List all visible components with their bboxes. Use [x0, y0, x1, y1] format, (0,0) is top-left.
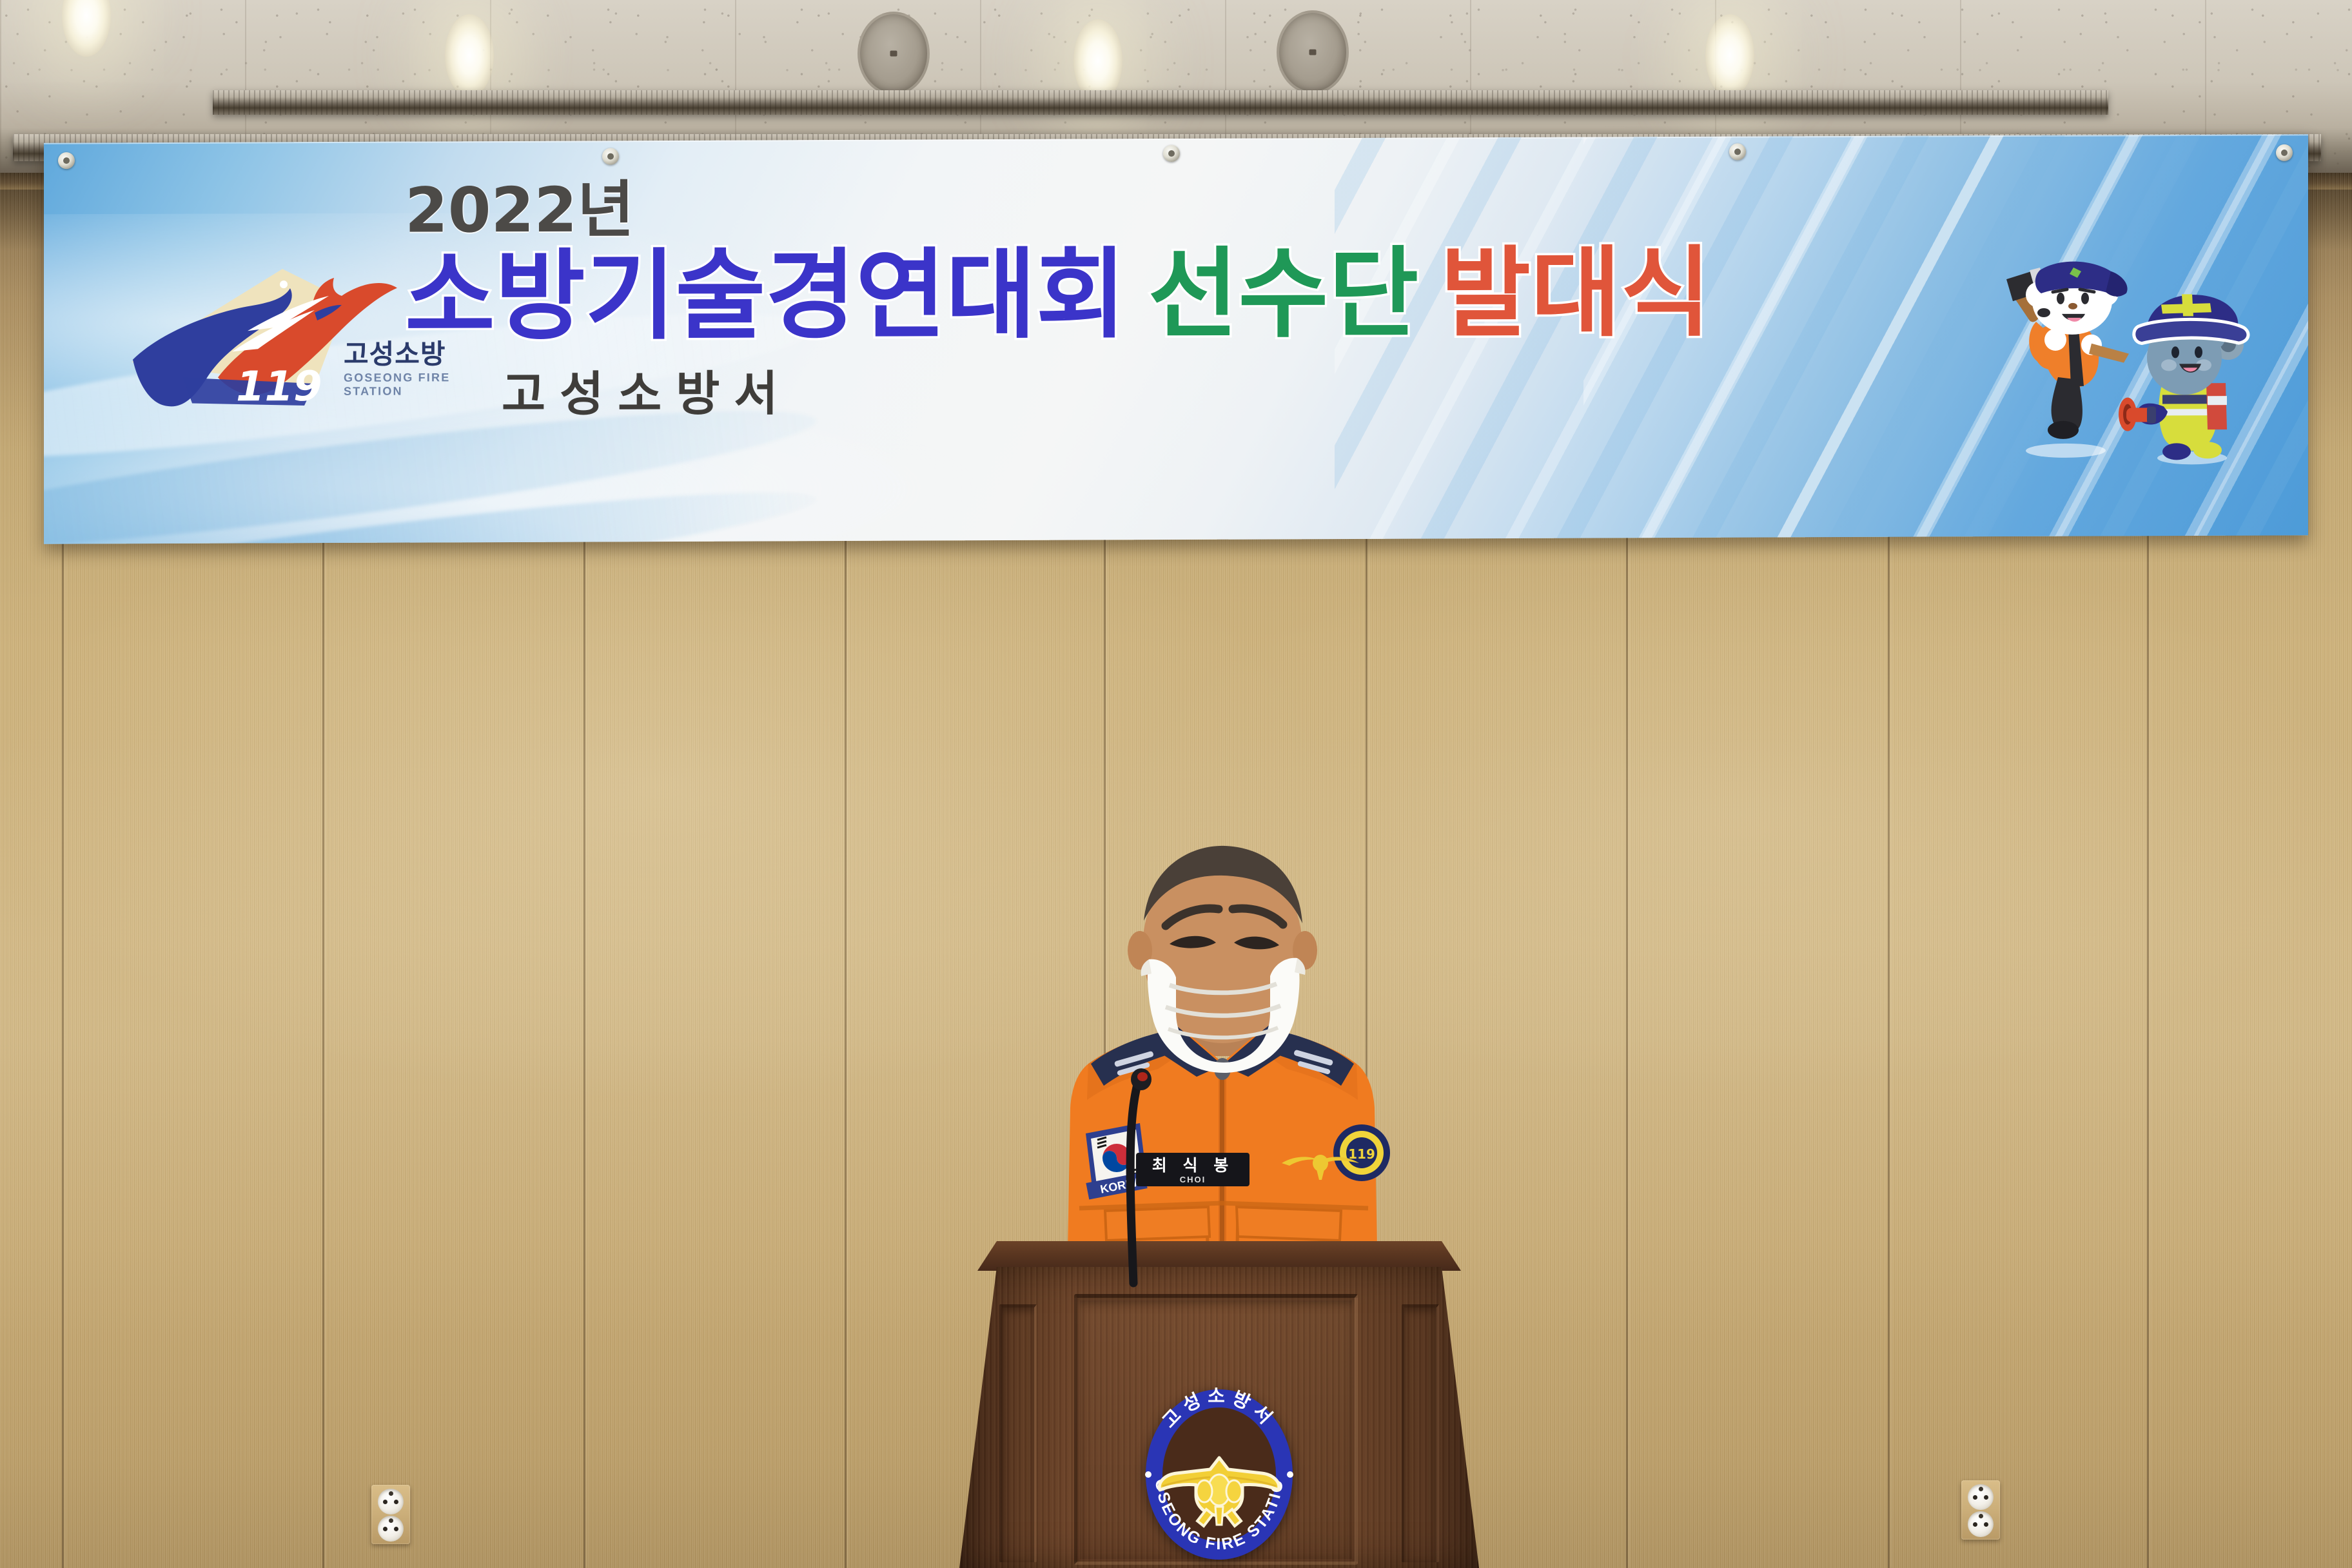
- ceiling-downlight: [1705, 14, 1754, 97]
- wall-outlet-right: [1961, 1480, 2000, 1540]
- photo-scene: 119 고성소방 GOSEONG FIRE STATION 2022년 소방기술…: [0, 0, 2352, 1568]
- nametag-korean: 최 식 봉: [1152, 1156, 1233, 1175]
- banner-mascots: [1991, 257, 2268, 470]
- outlet-socket: [1968, 1511, 1994, 1537]
- bear-mascot: [2119, 294, 2248, 465]
- vent-slats: [213, 90, 2108, 115]
- podium-front-body: 고성소방서 GOSEONG FIRE STATION: [959, 1267, 1479, 1568]
- event-banner: 119 고성소방 GOSEONG FIRE STATION 2022년 소방기술…: [44, 134, 2308, 544]
- mic-indicator: [1137, 1072, 1148, 1081]
- logo-119-number: 119: [236, 363, 322, 411]
- shoulder-patch-number: 119: [1348, 1146, 1375, 1162]
- banner-title-part3: 발대식: [1440, 236, 1711, 351]
- podium-side-panel-left: [999, 1304, 1037, 1562]
- ceiling-downlight: [62, 0, 111, 57]
- banner-grommet: [1729, 143, 1746, 160]
- podium-top-surface: [977, 1241, 1461, 1271]
- outlet-socket: [378, 1516, 404, 1542]
- fire-service-shoulder-patch: 119: [1333, 1124, 1390, 1181]
- outlet-socket: [1968, 1484, 1994, 1510]
- ceiling-downlight: [445, 14, 494, 97]
- tiger-mascot: [2006, 261, 2129, 458]
- banner-title-part2: 선수단: [1148, 237, 1419, 351]
- banner-title: 소방기술경연대회선수단발대식: [405, 244, 1711, 346]
- podium-side-panel-right: [1402, 1304, 1439, 1562]
- banner-grommet: [1163, 145, 1180, 162]
- banner-grommet: [2276, 144, 2293, 161]
- microphone: [1121, 1070, 1146, 1270]
- nametag-english: CHOI: [1180, 1175, 1206, 1184]
- banner-year: 2022년: [405, 176, 1711, 242]
- outlet-socket: [378, 1489, 404, 1514]
- mic-gooseneck: [1130, 1075, 1140, 1283]
- banner-headline: 2022년 소방기술경연대회선수단발대식 고성소방서: [405, 176, 1711, 426]
- ceiling-downlight: [1073, 19, 1122, 102]
- ceiling-air-vent: [213, 90, 2108, 115]
- wall-outlet-left: [371, 1485, 410, 1544]
- ceiling-diffuser: [1277, 10, 1349, 94]
- banner-grommet: [58, 152, 75, 169]
- banner-grommet: [602, 148, 619, 165]
- banner-subtitle: 고성소방서: [502, 353, 1711, 426]
- podium-emblem: 고성소방서 GOSEONG FIRE STATION: [1135, 1377, 1304, 1568]
- banner-title-part1: 소방기술경연대회: [405, 237, 1126, 353]
- ceiling-diffuser: [857, 12, 930, 95]
- podium: 고성소방서 GOSEONG FIRE STATION: [959, 1241, 1479, 1568]
